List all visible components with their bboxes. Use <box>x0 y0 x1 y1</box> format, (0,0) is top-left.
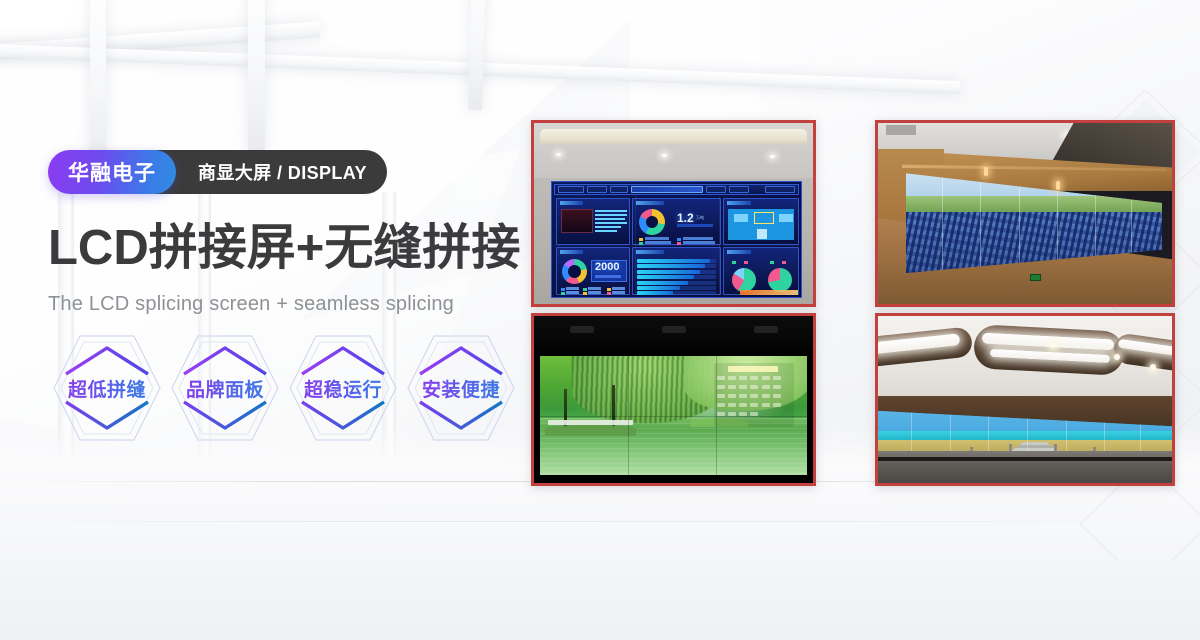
left-content-column: 商显大屏 / DISPLAY 华融电子 LCD拼接屏+无缝拼接 The LCD … <box>48 0 518 640</box>
brand-tag: 华融电子 <box>48 150 176 194</box>
gallery-photo-lake-willow-wall[interactable] <box>531 313 816 486</box>
page-subtitle: The LCD splicing screen + seamless splic… <box>48 293 454 316</box>
feature-hexagon-2: 品牌面板 <box>166 330 284 446</box>
gallery-photo-solar-farm-corridor-wall[interactable] <box>875 120 1175 307</box>
feature-hexagon-3: 超稳运行 <box>284 330 402 446</box>
page-title: LCD拼接屏+无缝拼接 <box>48 222 520 276</box>
gallery-photo-boardwalk-lobby-wall[interactable] <box>875 313 1175 486</box>
feature-hexagon-row: 超低拼缝 品牌面板 超稳运行 <box>48 330 520 446</box>
brand-pill-row: 商显大屏 / DISPLAY 华融电子 <box>48 150 176 194</box>
banner-root: 商显大屏 / DISPLAY 华融电子 LCD拼接屏+无缝拼接 The LCD … <box>0 0 1200 640</box>
calendar-overlay <box>714 363 794 427</box>
feature-hexagon-4: 安装便捷 <box>402 330 520 446</box>
feature-label-1: 超低拼缝 <box>48 330 166 446</box>
feature-label-3: 超稳运行 <box>284 330 402 446</box>
feature-label-4: 安装便捷 <box>402 330 520 446</box>
gallery-photo-control-room-dashboard[interactable]: 1.2 万吨 <box>531 120 816 307</box>
lake-scene-video-wall <box>540 356 807 475</box>
dashboard-screen: 1.2 万吨 <box>551 181 802 298</box>
feature-hexagon-1: 超低拼缝 <box>48 330 166 446</box>
feature-label-2: 品牌面板 <box>166 330 284 446</box>
